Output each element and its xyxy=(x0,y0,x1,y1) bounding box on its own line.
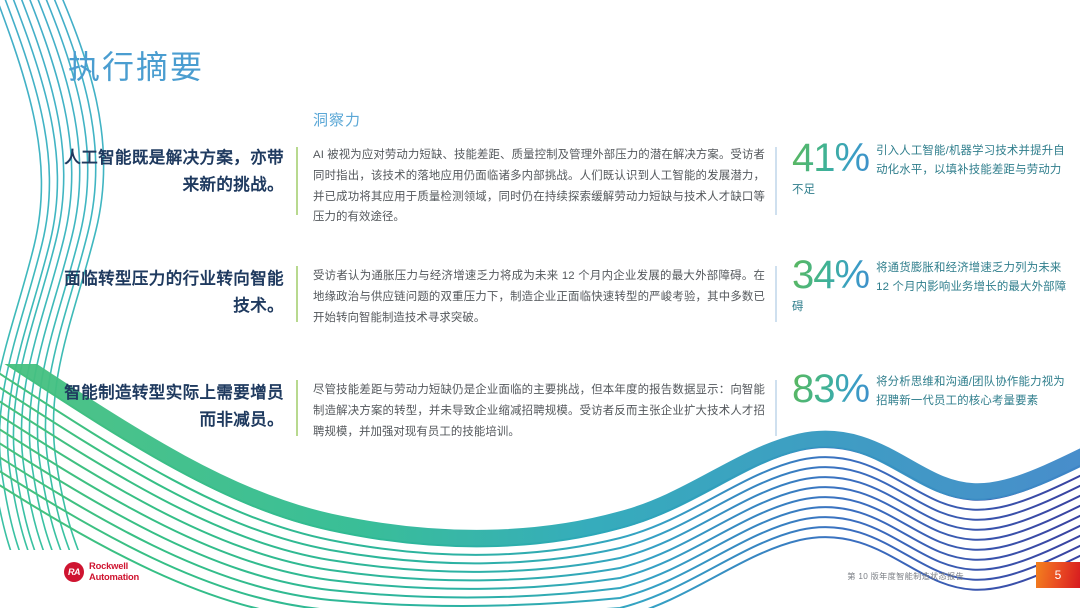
page-number-badge: 5 xyxy=(1036,562,1080,588)
stat-block: 41% 引入人工智能/机器学习技术并提升自动化水平，以填补技能差距与劳动力不足 xyxy=(792,141,1072,199)
logo-wordmark: Rockwell Automation xyxy=(89,561,139,582)
column-divider-right xyxy=(775,380,777,436)
column-divider-left xyxy=(296,266,298,322)
insight-body: AI 被视为应对劳动力短缺、技能差距、质量控制及管理外部压力的潜在解决方案。受访… xyxy=(313,145,765,228)
stat-value: 83% xyxy=(792,369,869,409)
rockwell-automation-logo: RA Rockwell Automation xyxy=(64,561,139,582)
insight-heading: 面临转型压力的行业转向智能技术。 xyxy=(62,266,284,320)
logo-line-1: Rockwell xyxy=(89,561,139,572)
stat-value: 34% xyxy=(792,255,869,295)
stat-value: 41% xyxy=(792,138,869,178)
stat-block: 34% 将通货膨胀和经济增速乏力列为未来 12 个月内影响业务增长的最大外部障碍 xyxy=(792,258,1072,316)
column-divider-right xyxy=(775,266,777,322)
insight-heading: 智能制造转型实际上需要增员而非减员。 xyxy=(62,380,284,434)
stat-block: 83% 将分析思维和沟通/团队协作能力视为招聘新一代员工的核心考量要素 xyxy=(792,372,1072,411)
page-title: 执行摘要 xyxy=(68,42,204,88)
insight-heading: 人工智能既是解决方案，亦带来新的挑战。 xyxy=(62,145,284,199)
insight-column-label: 洞察力 xyxy=(313,109,361,130)
rockwell-logo-icon: RA xyxy=(64,562,84,582)
column-divider-left xyxy=(296,380,298,436)
slide-canvas: 执行摘要 洞察力 人工智能既是解决方案，亦带来新的挑战。 AI 被视为应对劳动力… xyxy=(0,0,1080,608)
column-divider-right xyxy=(775,147,777,215)
insight-body: 受访者认为通胀压力与经济增速乏力将成为未来 12 个月内企业发展的最大外部障碍。… xyxy=(313,266,765,328)
footer-report-title: 第 10 版年度智能制造状态报告 xyxy=(847,570,964,582)
stat-description: 将分析思维和沟通/团队协作能力视为招聘新一代员工的核心考量要素 xyxy=(876,376,1065,407)
insight-body: 尽管技能差距与劳动力短缺仍是企业面临的主要挑战，但本年度的报告数据显示：向智能制… xyxy=(313,380,765,442)
logo-line-2: Automation xyxy=(89,572,139,583)
column-divider-left xyxy=(296,147,298,215)
